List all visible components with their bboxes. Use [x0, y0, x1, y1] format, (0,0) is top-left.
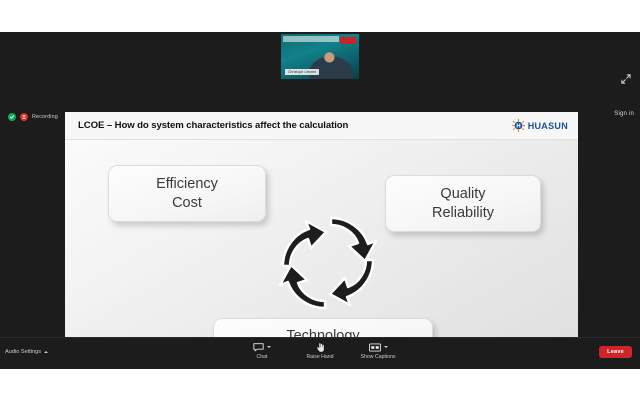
caret-down-icon[interactable] [384, 346, 388, 348]
huasun-sun-icon [512, 119, 525, 132]
recording-indicator[interactable]: Recording [8, 113, 58, 121]
audio-settings-label: Audio Settings [5, 349, 41, 355]
participant-name-text: Christoph Lenzen [288, 70, 316, 74]
chat-bubble-icon[interactable] [253, 342, 264, 352]
huasun-logo: HUASUN [512, 119, 568, 132]
raise-hand-icons-row [316, 341, 325, 353]
meeting-toolbar: Audio Settings Chat [0, 337, 640, 369]
audio-settings-button[interactable]: Audio Settings [5, 349, 48, 355]
chat-icons-row [253, 341, 271, 353]
page-title: LCOE – How do system characteristics aff… [78, 120, 348, 131]
raise-hand-icon[interactable] [316, 342, 325, 353]
toolbar-item-chat[interactable]: Chat [241, 341, 283, 360]
circular-arrows-cycle-icon [269, 204, 387, 322]
toolbar-label-show-captions: Show Captions [361, 354, 396, 360]
box-quality-line-2: Reliability [432, 204, 494, 223]
caret-up-icon[interactable] [44, 351, 48, 353]
video-red-badge [340, 37, 356, 44]
toolbar-center-controls: Chat Raise Hand [241, 341, 399, 360]
video-shared-slide-strip [283, 36, 339, 42]
meeting-top-bar: Christoph Lenzen [0, 32, 640, 79]
zoom-meeting-window: Christoph Lenzen Recording Sign in [0, 32, 640, 369]
expand-arrows-icon[interactable] [620, 72, 632, 84]
box-efficiency-line-2: Cost [172, 194, 202, 213]
slide-box-efficiency: Efficiency Cost [108, 165, 266, 222]
captions-icons-row [369, 341, 388, 353]
screen: Christoph Lenzen Recording Sign in [0, 0, 640, 409]
shield-check-icon [8, 113, 16, 121]
toolbar-label-chat: Chat [257, 354, 268, 360]
sign-in-button[interactable]: Sign in [614, 111, 634, 117]
shared-screen-slide: LCOE – How do system characteristics aff… [65, 112, 578, 369]
toolbar-item-raise-hand[interactable]: Raise Hand [299, 341, 341, 360]
toolbar-label-raise-hand: Raise Hand [306, 354, 333, 360]
recording-label: Recording [32, 114, 58, 120]
toolbar-item-show-captions[interactable]: Show Captions [357, 341, 399, 360]
participant-name-label: Christoph Lenzen [285, 69, 319, 75]
leave-button[interactable]: Leave [599, 346, 632, 358]
box-quality-line-1: Quality [440, 185, 485, 204]
recording-icon [20, 113, 28, 121]
huasun-logo-text: HUASUN [528, 121, 568, 131]
box-efficiency-line-1: Efficiency [156, 175, 218, 194]
self-video-thumbnail[interactable]: Christoph Lenzen [281, 34, 359, 79]
caret-down-icon[interactable] [267, 346, 271, 348]
slide-box-quality: Quality Reliability [385, 175, 541, 232]
closed-captions-icon[interactable] [369, 343, 381, 352]
